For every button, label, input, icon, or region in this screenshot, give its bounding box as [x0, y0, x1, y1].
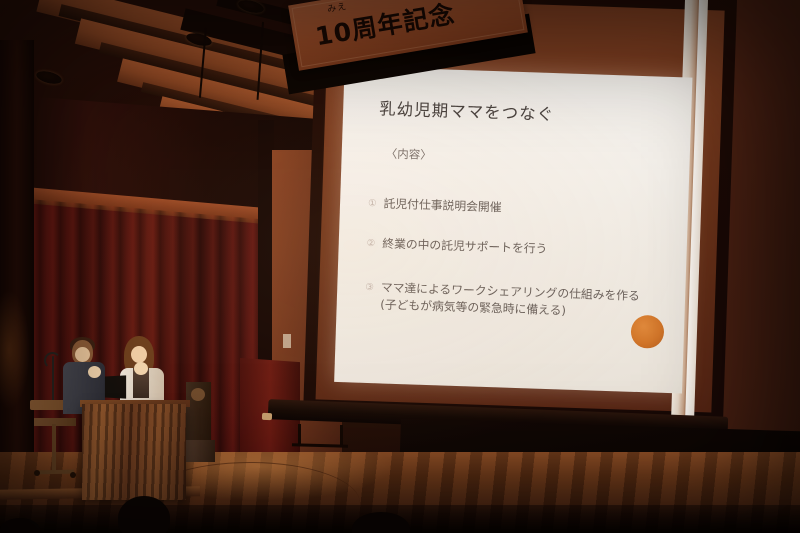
bullet-text: 託児付仕事説明会開催	[383, 195, 501, 216]
slide-bullet-1: ① 託児付仕事説明会開催	[368, 195, 502, 217]
wall-light-panel	[283, 334, 291, 348]
side-table-foot	[36, 470, 74, 475]
slide-content: 乳幼児期ママをつなぐ 〈内容〉 ① 託児付仕事説明会開催 ② 終業の中の託児サポ…	[334, 66, 692, 393]
slide-bullet-3: ③ ママ達によるワークシェアリングの仕組みを作る(子どもが病気等の緊急時に備える…	[364, 279, 653, 323]
pa-speaker-driver	[191, 388, 205, 401]
audience-head-silhouette	[118, 496, 170, 533]
slide-title: 乳幼児期ママをつなぐ	[379, 95, 555, 125]
slide-accent-dot	[630, 315, 664, 349]
bullet-number: ③	[365, 279, 374, 295]
pa-speaker-base	[182, 440, 215, 462]
microphone-stem	[52, 356, 54, 402]
presenter-hand	[134, 362, 148, 375]
laptop-icon	[105, 375, 126, 398]
left-wall-glow	[0, 290, 30, 410]
bullet-text: ママ達によるワークシェアリングの仕組みを作る(子どもが病気等の緊急時に備える)	[380, 279, 653, 322]
table-caster	[34, 470, 40, 476]
podium-wood-grain	[82, 404, 186, 500]
side-table-leg	[52, 424, 56, 472]
podium	[82, 404, 186, 500]
ceiling-downlight-icon	[35, 69, 63, 86]
bullet-number: ①	[368, 195, 377, 211]
screen-roller-knob	[262, 413, 272, 420]
presenter-face	[131, 346, 147, 363]
presenter-hand	[88, 366, 101, 378]
auditorium-presentation-photo: 乳幼児期ママをつなぐ 〈内容〉 ① 託児付仕事説明会開催 ② 終業の中の託児サポ…	[0, 0, 800, 533]
slide-subheading: 〈内容〉	[385, 146, 432, 164]
projected-slide: 乳幼児期ママをつなぐ 〈内容〉 ① 託児付仕事説明会開催 ② 終業の中の託児サポ…	[334, 66, 692, 393]
bullet-number: ②	[367, 235, 376, 251]
bullet-text: 終業の中の託児サポートを行う	[382, 235, 548, 258]
presenter-face	[75, 347, 90, 362]
slide-bullet-2: ② 終業の中の託児サポートを行う	[366, 235, 547, 258]
table-caster	[70, 472, 76, 478]
